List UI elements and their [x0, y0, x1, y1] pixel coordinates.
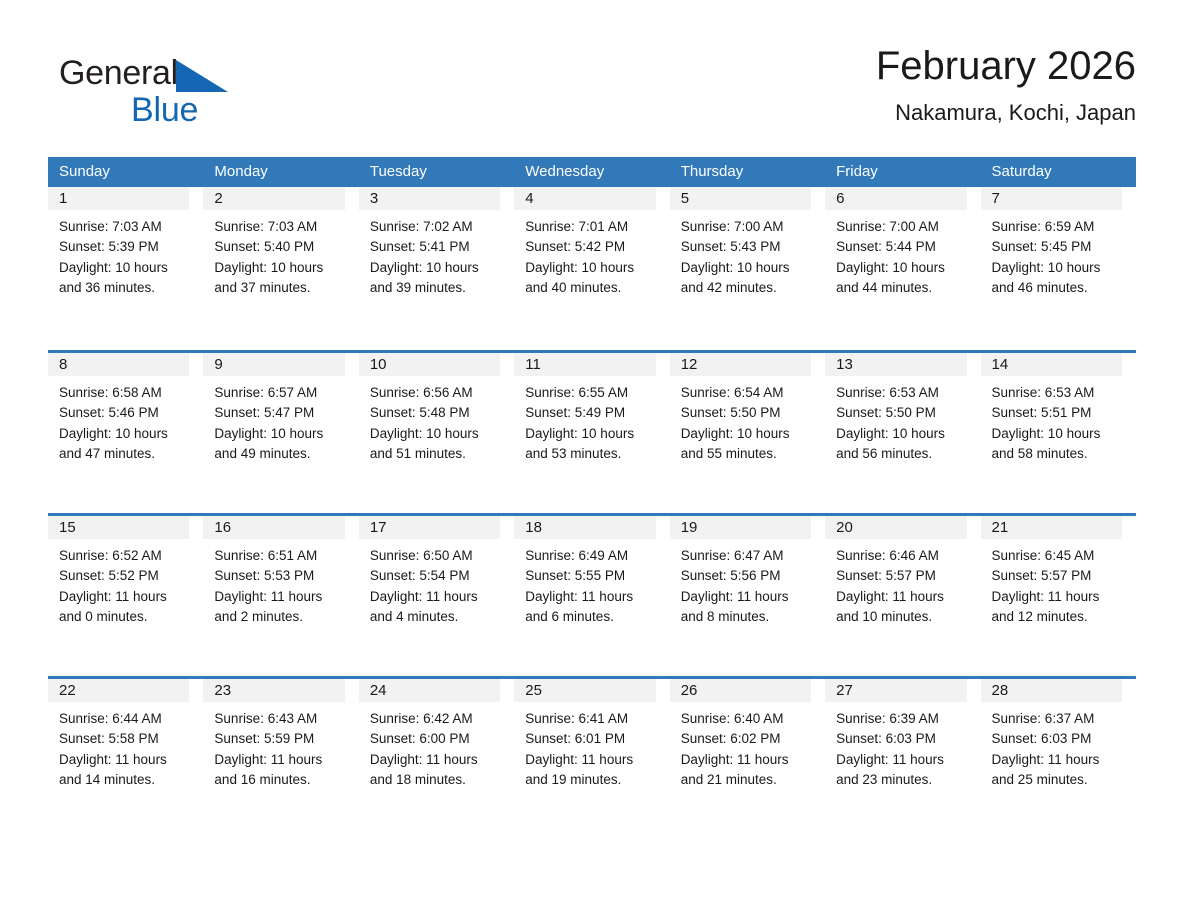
day-number-band: 6	[825, 187, 966, 210]
sunrise-text: Sunrise: 7:00 AM	[681, 217, 819, 237]
day-cell[interactable]: 3Sunrise: 7:02 AMSunset: 5:41 PMDaylight…	[359, 187, 514, 339]
day-number-band: 9	[203, 353, 344, 376]
day-details: Sunrise: 6:59 AMSunset: 5:45 PMDaylight:…	[981, 210, 1136, 298]
day-details: Sunrise: 6:40 AMSunset: 6:02 PMDaylight:…	[670, 702, 825, 790]
sunrise-text: Sunrise: 7:00 AM	[836, 217, 974, 237]
day-cell[interactable]: 21Sunrise: 6:45 AMSunset: 5:57 PMDayligh…	[981, 516, 1136, 665]
daylight-text-line2: and 16 minutes.	[214, 770, 352, 790]
day-number: 27	[825, 679, 966, 702]
daylight-text-line2: and 14 minutes.	[59, 770, 197, 790]
daylight-text-line1: Daylight: 11 hours	[992, 587, 1130, 607]
daylight-text-line2: and 8 minutes.	[681, 607, 819, 627]
day-number: 28	[981, 679, 1122, 702]
day-number: 22	[48, 679, 189, 702]
sunset-text: Sunset: 5:40 PM	[214, 237, 352, 257]
day-number: 11	[514, 353, 655, 376]
day-number: 7	[981, 187, 1122, 210]
day-number: 15	[48, 516, 189, 539]
day-number-band: 5	[670, 187, 811, 210]
daylight-text-line1: Daylight: 11 hours	[525, 587, 663, 607]
day-cell[interactable]: 6Sunrise: 7:00 AMSunset: 5:44 PMDaylight…	[825, 187, 980, 339]
sunset-text: Sunset: 5:54 PM	[370, 566, 508, 586]
daylight-text-line1: Daylight: 11 hours	[370, 587, 508, 607]
sunset-text: Sunset: 5:50 PM	[681, 403, 819, 423]
sunrise-text: Sunrise: 6:50 AM	[370, 546, 508, 566]
weekday-header-thursday: Thursday	[670, 157, 825, 187]
day-cell[interactable]: 24Sunrise: 6:42 AMSunset: 6:00 PMDayligh…	[359, 679, 514, 828]
sunset-text: Sunset: 5:52 PM	[59, 566, 197, 586]
daylight-text-line1: Daylight: 10 hours	[59, 424, 197, 444]
day-number: 9	[203, 353, 344, 376]
sunset-text: Sunset: 5:41 PM	[370, 237, 508, 257]
page-subtitle-location: Nakamura, Kochi, Japan	[876, 98, 1136, 128]
day-cell[interactable]: 23Sunrise: 6:43 AMSunset: 5:59 PMDayligh…	[203, 679, 358, 828]
sunset-text: Sunset: 5:43 PM	[681, 237, 819, 257]
day-cell[interactable]: 16Sunrise: 6:51 AMSunset: 5:53 PMDayligh…	[203, 516, 358, 665]
daylight-text-line1: Daylight: 10 hours	[836, 258, 974, 278]
day-number: 16	[203, 516, 344, 539]
day-details: Sunrise: 6:56 AMSunset: 5:48 PMDaylight:…	[359, 376, 514, 464]
sunset-text: Sunset: 5:55 PM	[525, 566, 663, 586]
day-number-band: 27	[825, 679, 966, 702]
day-number: 21	[981, 516, 1122, 539]
day-number: 23	[203, 679, 344, 702]
day-cell[interactable]: 22Sunrise: 6:44 AMSunset: 5:58 PMDayligh…	[48, 679, 203, 828]
day-cell[interactable]: 2Sunrise: 7:03 AMSunset: 5:40 PMDaylight…	[203, 187, 358, 339]
daylight-text-line1: Daylight: 10 hours	[370, 258, 508, 278]
sunrise-text: Sunrise: 6:58 AM	[59, 383, 197, 403]
daylight-text-line2: and 4 minutes.	[370, 607, 508, 627]
day-number: 19	[670, 516, 811, 539]
weekday-header-row: Sunday Monday Tuesday Wednesday Thursday…	[48, 157, 1136, 187]
sunrise-text: Sunrise: 6:56 AM	[370, 383, 508, 403]
day-number-band: 2	[203, 187, 344, 210]
day-details: Sunrise: 6:39 AMSunset: 6:03 PMDaylight:…	[825, 702, 980, 790]
day-number-band: 20	[825, 516, 966, 539]
weekday-header-saturday: Saturday	[981, 157, 1136, 187]
day-number: 14	[981, 353, 1122, 376]
day-number-band: 1	[48, 187, 189, 210]
daylight-text-line2: and 37 minutes.	[214, 278, 352, 298]
week-row: 1Sunrise: 7:03 AMSunset: 5:39 PMDaylight…	[48, 187, 1136, 339]
sunset-text: Sunset: 5:59 PM	[214, 729, 352, 749]
day-cell[interactable]: 18Sunrise: 6:49 AMSunset: 5:55 PMDayligh…	[514, 516, 669, 665]
daylight-text-line1: Daylight: 10 hours	[525, 424, 663, 444]
day-number-band: 15	[48, 516, 189, 539]
sunset-text: Sunset: 5:42 PM	[525, 237, 663, 257]
sunset-text: Sunset: 5:58 PM	[59, 729, 197, 749]
daylight-text-line2: and 6 minutes.	[525, 607, 663, 627]
day-details: Sunrise: 6:51 AMSunset: 5:53 PMDaylight:…	[203, 539, 358, 627]
sunset-text: Sunset: 5:51 PM	[992, 403, 1130, 423]
sunrise-text: Sunrise: 6:46 AM	[836, 546, 974, 566]
daylight-text-line2: and 46 minutes.	[992, 278, 1130, 298]
day-number: 5	[670, 187, 811, 210]
daylight-text-line1: Daylight: 11 hours	[525, 750, 663, 770]
daylight-text-line1: Daylight: 10 hours	[525, 258, 663, 278]
day-cell[interactable]: 17Sunrise: 6:50 AMSunset: 5:54 PMDayligh…	[359, 516, 514, 665]
day-number: 25	[514, 679, 655, 702]
day-number: 4	[514, 187, 655, 210]
day-cell[interactable]: 25Sunrise: 6:41 AMSunset: 6:01 PMDayligh…	[514, 679, 669, 828]
sunrise-text: Sunrise: 6:57 AM	[214, 383, 352, 403]
day-cell[interactable]: 8Sunrise: 6:58 AMSunset: 5:46 PMDaylight…	[48, 353, 203, 502]
calendar-page: General Blue February 2026 Nakamura, Koc…	[0, 0, 1188, 918]
daylight-text-line1: Daylight: 10 hours	[214, 424, 352, 444]
daylight-text-line2: and 12 minutes.	[992, 607, 1130, 627]
day-number: 17	[359, 516, 500, 539]
daylight-text-line2: and 42 minutes.	[681, 278, 819, 298]
daylight-text-line2: and 39 minutes.	[370, 278, 508, 298]
day-number: 12	[670, 353, 811, 376]
day-number: 2	[203, 187, 344, 210]
weekday-header-monday: Monday	[203, 157, 358, 187]
day-number-band: 12	[670, 353, 811, 376]
sunset-text: Sunset: 5:53 PM	[214, 566, 352, 586]
sunset-text: Sunset: 6:02 PM	[681, 729, 819, 749]
day-cell[interactable]: 13Sunrise: 6:53 AMSunset: 5:50 PMDayligh…	[825, 353, 980, 502]
week-row: 22Sunrise: 6:44 AMSunset: 5:58 PMDayligh…	[48, 676, 1136, 828]
sunset-text: Sunset: 6:00 PM	[370, 729, 508, 749]
day-details: Sunrise: 6:53 AMSunset: 5:50 PMDaylight:…	[825, 376, 980, 464]
daylight-text-line2: and 58 minutes.	[992, 444, 1130, 464]
day-cell[interactable]: 20Sunrise: 6:46 AMSunset: 5:57 PMDayligh…	[825, 516, 980, 665]
daylight-text-line2: and 23 minutes.	[836, 770, 974, 790]
sunrise-text: Sunrise: 7:03 AM	[59, 217, 197, 237]
day-number-band: 22	[48, 679, 189, 702]
day-number-band: 16	[203, 516, 344, 539]
day-number-band: 23	[203, 679, 344, 702]
day-details: Sunrise: 6:49 AMSunset: 5:55 PMDaylight:…	[514, 539, 669, 627]
day-cell[interactable]: 12Sunrise: 6:54 AMSunset: 5:50 PMDayligh…	[670, 353, 825, 502]
day-number: 20	[825, 516, 966, 539]
day-number: 1	[48, 187, 189, 210]
day-number-band: 24	[359, 679, 500, 702]
sunset-text: Sunset: 5:45 PM	[992, 237, 1130, 257]
day-details: Sunrise: 6:44 AMSunset: 5:58 PMDaylight:…	[48, 702, 203, 790]
daylight-text-line2: and 21 minutes.	[681, 770, 819, 790]
day-details: Sunrise: 6:41 AMSunset: 6:01 PMDaylight:…	[514, 702, 669, 790]
sunrise-text: Sunrise: 7:01 AM	[525, 217, 663, 237]
day-cell[interactable]: 15Sunrise: 6:52 AMSunset: 5:52 PMDayligh…	[48, 516, 203, 665]
logo-word-blue: Blue	[131, 93, 228, 127]
sunrise-text: Sunrise: 6:42 AM	[370, 709, 508, 729]
day-cell[interactable]: 4Sunrise: 7:01 AMSunset: 5:42 PMDaylight…	[514, 187, 669, 339]
day-number: 3	[359, 187, 500, 210]
sunset-text: Sunset: 5:57 PM	[836, 566, 974, 586]
sunrise-text: Sunrise: 6:53 AM	[836, 383, 974, 403]
day-details: Sunrise: 6:37 AMSunset: 6:03 PMDaylight:…	[981, 702, 1136, 790]
sunset-text: Sunset: 5:57 PM	[992, 566, 1130, 586]
daylight-text-line1: Daylight: 10 hours	[681, 258, 819, 278]
day-cell[interactable]: 27Sunrise: 6:39 AMSunset: 6:03 PMDayligh…	[825, 679, 980, 828]
sunset-text: Sunset: 6:03 PM	[992, 729, 1130, 749]
daylight-text-line1: Daylight: 11 hours	[681, 587, 819, 607]
calendar-grid: Sunday Monday Tuesday Wednesday Thursday…	[48, 157, 1136, 828]
day-number-band: 3	[359, 187, 500, 210]
daylight-text-line2: and 18 minutes.	[370, 770, 508, 790]
day-cell[interactable]: 26Sunrise: 6:40 AMSunset: 6:02 PMDayligh…	[670, 679, 825, 828]
sunset-text: Sunset: 5:49 PM	[525, 403, 663, 423]
sunrise-text: Sunrise: 6:44 AM	[59, 709, 197, 729]
day-number-band: 14	[981, 353, 1122, 376]
day-cell[interactable]: 7Sunrise: 6:59 AMSunset: 5:45 PMDaylight…	[981, 187, 1136, 339]
day-details: Sunrise: 6:55 AMSunset: 5:49 PMDaylight:…	[514, 376, 669, 464]
daylight-text-line1: Daylight: 11 hours	[59, 750, 197, 770]
daylight-text-line2: and 25 minutes.	[992, 770, 1130, 790]
day-details: Sunrise: 6:53 AMSunset: 5:51 PMDaylight:…	[981, 376, 1136, 464]
sunset-text: Sunset: 5:50 PM	[836, 403, 974, 423]
daylight-text-line1: Daylight: 10 hours	[214, 258, 352, 278]
page-header: General Blue February 2026 Nakamura, Koc…	[48, 40, 1136, 146]
day-cell[interactable]: 10Sunrise: 6:56 AMSunset: 5:48 PMDayligh…	[359, 353, 514, 502]
daylight-text-line1: Daylight: 11 hours	[214, 587, 352, 607]
day-number-band: 26	[670, 679, 811, 702]
day-number-band: 18	[514, 516, 655, 539]
daylight-text-line2: and 49 minutes.	[214, 444, 352, 464]
weekday-header-friday: Friday	[825, 157, 980, 187]
sunrise-text: Sunrise: 6:47 AM	[681, 546, 819, 566]
day-details: Sunrise: 6:43 AMSunset: 5:59 PMDaylight:…	[203, 702, 358, 790]
sunset-text: Sunset: 6:01 PM	[525, 729, 663, 749]
day-number: 6	[825, 187, 966, 210]
day-details: Sunrise: 7:01 AMSunset: 5:42 PMDaylight:…	[514, 210, 669, 298]
day-details: Sunrise: 6:58 AMSunset: 5:46 PMDaylight:…	[48, 376, 203, 464]
daylight-text-line2: and 56 minutes.	[836, 444, 974, 464]
day-number: 8	[48, 353, 189, 376]
day-number: 18	[514, 516, 655, 539]
daylight-text-line2: and 53 minutes.	[525, 444, 663, 464]
daylight-text-line1: Daylight: 11 hours	[59, 587, 197, 607]
sunrise-text: Sunrise: 6:39 AM	[836, 709, 974, 729]
day-cell[interactable]: 5Sunrise: 7:00 AMSunset: 5:43 PMDaylight…	[670, 187, 825, 339]
daylight-text-line2: and 2 minutes.	[214, 607, 352, 627]
sunrise-text: Sunrise: 6:59 AM	[992, 217, 1130, 237]
day-details: Sunrise: 6:50 AMSunset: 5:54 PMDaylight:…	[359, 539, 514, 627]
day-cell[interactable]: 9Sunrise: 6:57 AMSunset: 5:47 PMDaylight…	[203, 353, 358, 502]
weekday-header-wednesday: Wednesday	[514, 157, 669, 187]
daylight-text-line2: and 44 minutes.	[836, 278, 974, 298]
logo-word-general: General	[59, 54, 178, 92]
daylight-text-line1: Daylight: 10 hours	[59, 258, 197, 278]
daylight-text-line1: Daylight: 11 hours	[681, 750, 819, 770]
daylight-text-line1: Daylight: 10 hours	[836, 424, 974, 444]
day-number-band: 13	[825, 353, 966, 376]
day-number-band: 19	[670, 516, 811, 539]
sunrise-text: Sunrise: 6:55 AM	[525, 383, 663, 403]
daylight-text-line2: and 51 minutes.	[370, 444, 508, 464]
daylight-text-line2: and 19 minutes.	[525, 770, 663, 790]
day-details: Sunrise: 7:02 AMSunset: 5:41 PMDaylight:…	[359, 210, 514, 298]
sunrise-text: Sunrise: 6:41 AM	[525, 709, 663, 729]
day-number: 26	[670, 679, 811, 702]
sunset-text: Sunset: 5:44 PM	[836, 237, 974, 257]
day-details: Sunrise: 6:45 AMSunset: 5:57 PMDaylight:…	[981, 539, 1136, 627]
sunrise-text: Sunrise: 6:43 AM	[214, 709, 352, 729]
daylight-text-line2: and 0 minutes.	[59, 607, 197, 627]
day-details: Sunrise: 6:57 AMSunset: 5:47 PMDaylight:…	[203, 376, 358, 464]
daylight-text-line2: and 55 minutes.	[681, 444, 819, 464]
daylight-text-line1: Daylight: 11 hours	[836, 750, 974, 770]
day-cell[interactable]: 1Sunrise: 7:03 AMSunset: 5:39 PMDaylight…	[48, 187, 203, 339]
title-block: February 2026 Nakamura, Kochi, Japan	[876, 40, 1136, 128]
daylight-text-line1: Daylight: 11 hours	[836, 587, 974, 607]
sunrise-text: Sunrise: 6:53 AM	[992, 383, 1130, 403]
day-number-band: 17	[359, 516, 500, 539]
day-details: Sunrise: 6:54 AMSunset: 5:50 PMDaylight:…	[670, 376, 825, 464]
daylight-text-line2: and 10 minutes.	[836, 607, 974, 627]
day-cell[interactable]: 11Sunrise: 6:55 AMSunset: 5:49 PMDayligh…	[514, 353, 669, 502]
sunrise-text: Sunrise: 7:03 AM	[214, 217, 352, 237]
day-cell[interactable]: 28Sunrise: 6:37 AMSunset: 6:03 PMDayligh…	[981, 679, 1136, 828]
daylight-text-line1: Daylight: 10 hours	[681, 424, 819, 444]
daylight-text-line1: Daylight: 11 hours	[992, 750, 1130, 770]
day-details: Sunrise: 6:42 AMSunset: 6:00 PMDaylight:…	[359, 702, 514, 790]
week-row: 8Sunrise: 6:58 AMSunset: 5:46 PMDaylight…	[48, 350, 1136, 502]
sunrise-text: Sunrise: 6:52 AM	[59, 546, 197, 566]
generalblue-logo[interactable]: General Blue	[59, 54, 228, 127]
page-title: February 2026	[876, 40, 1136, 92]
day-details: Sunrise: 6:46 AMSunset: 5:57 PMDaylight:…	[825, 539, 980, 627]
day-number-band: 28	[981, 679, 1122, 702]
sunset-text: Sunset: 5:56 PM	[681, 566, 819, 586]
daylight-text-line2: and 47 minutes.	[59, 444, 197, 464]
day-number-band: 25	[514, 679, 655, 702]
daylight-text-line1: Daylight: 11 hours	[214, 750, 352, 770]
calendar-weeks: 1Sunrise: 7:03 AMSunset: 5:39 PMDaylight…	[48, 187, 1136, 828]
day-details: Sunrise: 6:52 AMSunset: 5:52 PMDaylight:…	[48, 539, 203, 627]
day-details: Sunrise: 7:00 AMSunset: 5:44 PMDaylight:…	[825, 210, 980, 298]
daylight-text-line1: Daylight: 10 hours	[992, 258, 1130, 278]
week-row: 15Sunrise: 6:52 AMSunset: 5:52 PMDayligh…	[48, 513, 1136, 665]
sunset-text: Sunset: 5:47 PM	[214, 403, 352, 423]
day-cell[interactable]: 19Sunrise: 6:47 AMSunset: 5:56 PMDayligh…	[670, 516, 825, 665]
sunrise-text: Sunrise: 7:02 AM	[370, 217, 508, 237]
day-number-band: 4	[514, 187, 655, 210]
day-number-band: 7	[981, 187, 1122, 210]
weekday-header-tuesday: Tuesday	[359, 157, 514, 187]
sunrise-text: Sunrise: 6:45 AM	[992, 546, 1130, 566]
sunrise-text: Sunrise: 6:51 AM	[214, 546, 352, 566]
sunset-text: Sunset: 5:48 PM	[370, 403, 508, 423]
day-details: Sunrise: 6:47 AMSunset: 5:56 PMDaylight:…	[670, 539, 825, 627]
day-details: Sunrise: 7:03 AMSunset: 5:39 PMDaylight:…	[48, 210, 203, 298]
sunset-text: Sunset: 6:03 PM	[836, 729, 974, 749]
day-number-band: 21	[981, 516, 1122, 539]
day-cell[interactable]: 14Sunrise: 6:53 AMSunset: 5:51 PMDayligh…	[981, 353, 1136, 502]
sunrise-text: Sunrise: 6:37 AM	[992, 709, 1130, 729]
day-number-band: 10	[359, 353, 500, 376]
daylight-text-line1: Daylight: 10 hours	[992, 424, 1130, 444]
sunset-text: Sunset: 5:46 PM	[59, 403, 197, 423]
day-number: 10	[359, 353, 500, 376]
daylight-text-line1: Daylight: 10 hours	[370, 424, 508, 444]
sunrise-text: Sunrise: 6:54 AM	[681, 383, 819, 403]
sunrise-text: Sunrise: 6:40 AM	[681, 709, 819, 729]
sunset-text: Sunset: 5:39 PM	[59, 237, 197, 257]
weekday-header-sunday: Sunday	[48, 157, 203, 187]
day-number: 24	[359, 679, 500, 702]
day-number-band: 11	[514, 353, 655, 376]
daylight-text-line1: Daylight: 11 hours	[370, 750, 508, 770]
day-number-band: 8	[48, 353, 189, 376]
day-details: Sunrise: 7:00 AMSunset: 5:43 PMDaylight:…	[670, 210, 825, 298]
sunrise-text: Sunrise: 6:49 AM	[525, 546, 663, 566]
daylight-text-line2: and 36 minutes.	[59, 278, 197, 298]
day-number: 13	[825, 353, 966, 376]
daylight-text-line2: and 40 minutes.	[525, 278, 663, 298]
day-details: Sunrise: 7:03 AMSunset: 5:40 PMDaylight:…	[203, 210, 358, 298]
